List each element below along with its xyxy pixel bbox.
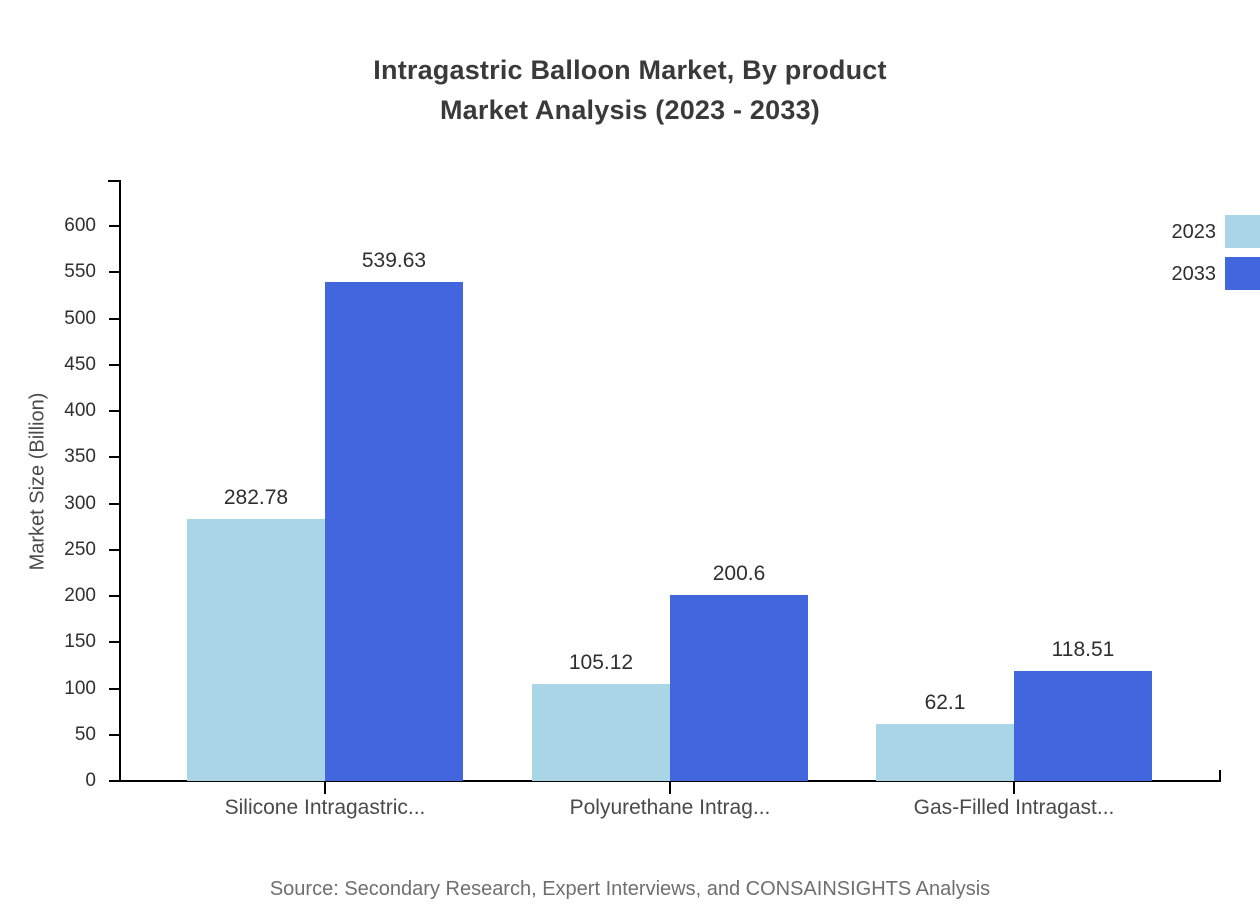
y-axis-tick: [109, 410, 120, 412]
y-axis-tick: [109, 734, 120, 736]
y-axis-tick: [109, 503, 120, 505]
y-axis-tick-label: 0: [34, 771, 96, 790]
legend-swatch: [1225, 215, 1260, 248]
y-axis-tick: [109, 364, 120, 366]
x-axis-tick: [1013, 782, 1015, 794]
y-axis-title: Market Size (Billion): [27, 352, 50, 612]
plot-area: 050100150200250300350400450500550600 282…: [0, 0, 1260, 920]
legend-swatch: [1225, 257, 1260, 290]
y-axis-tick: [109, 688, 120, 690]
y-axis-top-cap: [108, 180, 120, 182]
y-axis-tick: [109, 549, 120, 551]
y-axis-tick: [109, 318, 120, 320]
legend-label: 2023: [1130, 221, 1216, 243]
legend-item-2033[interactable]: 2033: [1130, 257, 1260, 291]
y-axis-tick-label: 50: [34, 725, 96, 744]
bar-2033-2[interactable]: [1014, 671, 1152, 781]
x-axis-category-label: Gas-Filled Intragast...: [814, 794, 1214, 822]
bar-2023-1[interactable]: [532, 684, 670, 781]
x-axis-tick: [324, 782, 326, 794]
y-axis-tick-label: 150: [34, 632, 96, 651]
legend-item-2023[interactable]: 2023: [1130, 215, 1260, 249]
source-note: Source: Secondary Research, Expert Inter…: [0, 878, 1260, 901]
bar-value-label: 539.63: [295, 250, 493, 271]
bar-2033-0[interactable]: [325, 282, 463, 781]
x-axis-category-label: Silicone Intragastric...: [125, 794, 525, 822]
y-axis-tick: [109, 271, 120, 273]
y-axis-tick-label: 100: [34, 679, 96, 698]
bar-value-label: 118.51: [984, 639, 1182, 660]
y-axis-tick: [109, 595, 120, 597]
y-axis-tick: [109, 780, 120, 782]
chart-legend: 20232033: [1130, 215, 1260, 305]
bar-2023-2[interactable]: [876, 724, 1014, 781]
bar-2033-1[interactable]: [670, 595, 808, 781]
y-axis-tick-label: 500: [34, 309, 96, 328]
y-axis-tick-label: 550: [34, 262, 96, 281]
y-axis-tick-label: 600: [34, 216, 96, 235]
y-axis-tick: [109, 456, 120, 458]
x-axis-end-cap: [1219, 770, 1221, 782]
y-axis-tick: [109, 225, 120, 227]
y-axis-tick: [109, 641, 120, 643]
legend-label: 2033: [1130, 263, 1216, 285]
bar-value-label: 200.6: [640, 563, 838, 584]
x-axis-tick: [669, 782, 671, 794]
x-axis-category-label: Polyurethane Intrag...: [470, 794, 870, 822]
chart-container: Intragastric Balloon Market, By product …: [0, 0, 1260, 920]
bar-2023-0[interactable]: [187, 519, 325, 781]
